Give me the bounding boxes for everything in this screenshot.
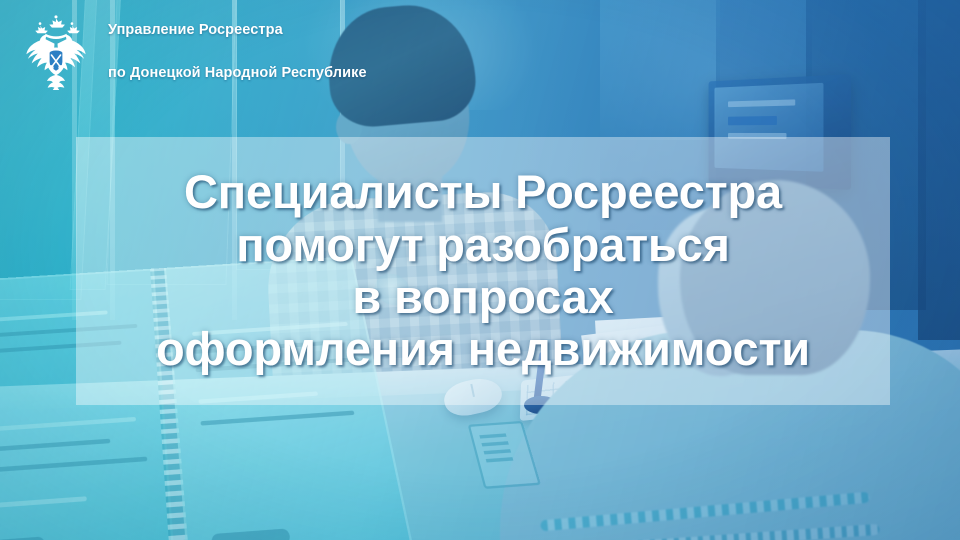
headline-line-1: Специалисты Росреестра — [156, 166, 810, 218]
rosreestr-info-banner: Управление Росреестра по Донецкой Народн… — [0, 0, 960, 540]
headline-line-3: в вопросах — [156, 271, 810, 323]
organization-name-line-2: по Донецкой Народной Республике — [108, 63, 367, 84]
organization-name-line-1: Управление Росреестра — [108, 20, 367, 41]
headline-line-2: помогут разобраться — [156, 219, 810, 271]
headline-text: Специалисты Росреестра помогут разобрать… — [156, 166, 810, 376]
headline-line-4: оформления недвижимости — [156, 323, 810, 375]
banner-header: Управление Росреестра по Донецкой Народн… — [0, 0, 960, 104]
headline-overlay-panel: Специалисты Росреестра помогут разобрать… — [76, 137, 890, 405]
organization-name: Управление Росреестра по Донецкой Народн… — [108, 0, 367, 105]
russian-double-headed-eagle-emblem-icon — [18, 14, 94, 90]
